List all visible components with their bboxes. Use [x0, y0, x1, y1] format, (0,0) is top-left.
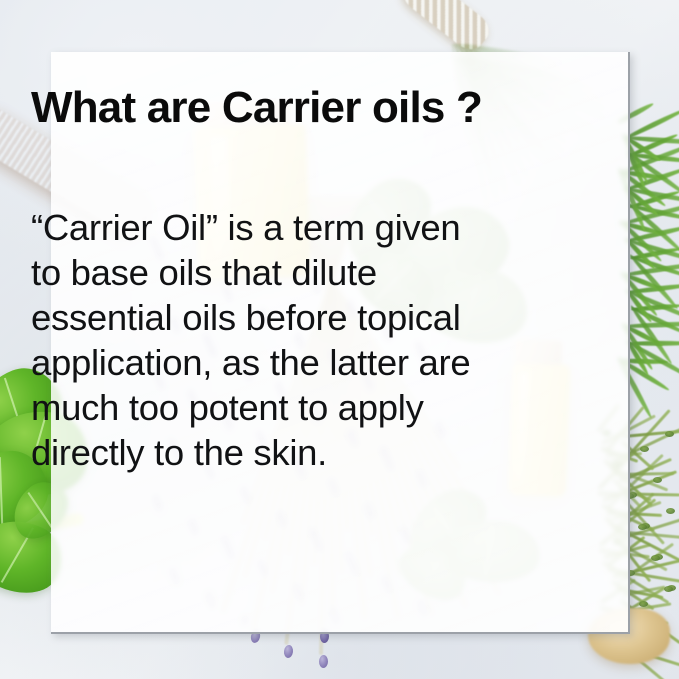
- page-title: What are Carrier oils ?: [31, 83, 571, 133]
- body-line: to base oils that dilute: [31, 250, 566, 295]
- body-line: “Carrier Oil” is a term given: [31, 205, 566, 250]
- body-line: application, as the latter are: [31, 340, 566, 385]
- infographic-canvas: What are Carrier oils ? “Carrier Oil” is…: [0, 0, 679, 679]
- body-paragraph: “Carrier Oil” is a term given to base oi…: [31, 205, 566, 475]
- body-line: directly to the skin.: [31, 430, 566, 475]
- body-line: much too potent to apply: [31, 385, 566, 430]
- body-line: essential oils before topical: [31, 295, 566, 340]
